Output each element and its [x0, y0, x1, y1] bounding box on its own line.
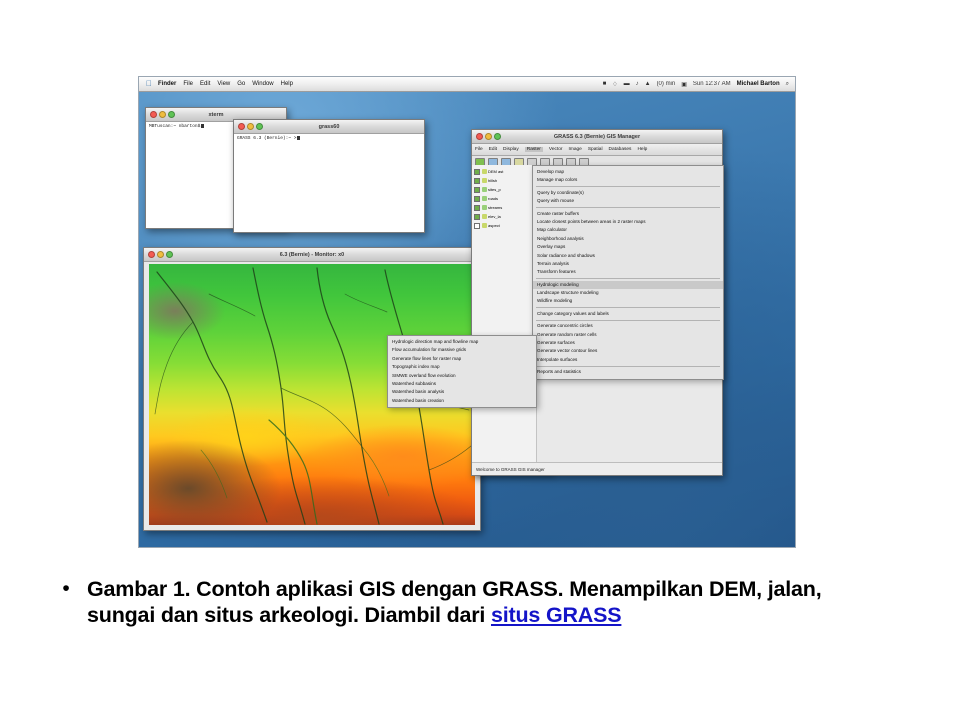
raster-menu-item[interactable]: Query by coordinate(s): [533, 189, 723, 197]
menu-separator: [536, 278, 720, 279]
zoom-icon[interactable]: [168, 111, 175, 118]
submenu-item[interactable]: Generate flow lines for raster map: [388, 355, 536, 363]
layer-tree-item[interactable]: roads: [474, 194, 534, 203]
raster-icon: [482, 214, 487, 219]
raster-menu-item[interactable]: Develop map: [533, 168, 723, 176]
close-icon[interactable]: [238, 123, 245, 130]
terminal-1-prompt: MBTuscan:~ nbarton$: [149, 124, 200, 129]
menu-go[interactable]: Go: [237, 81, 245, 87]
layer-tree-item[interactable]: hillsh: [474, 176, 534, 185]
raster-menu-item[interactable]: Hydrologic modeling: [533, 281, 723, 289]
caption: • Gambar 1. Contoh aplikasi GIS dengan G…: [55, 576, 915, 628]
gm-menu-file[interactable]: File: [475, 147, 483, 152]
gm-menu-display[interactable]: Display: [503, 147, 519, 152]
menu-view[interactable]: View: [217, 81, 230, 87]
raster-menu-item[interactable]: Wildfire modeling: [533, 297, 723, 305]
vector-icon: [482, 196, 487, 201]
monitor-title: 6.3 (Bernie) - Monitor: x0: [144, 252, 480, 258]
submenu-item[interactable]: SIMWE overland flow evolution: [388, 372, 536, 380]
menu-separator: [536, 366, 720, 367]
menu-edit[interactable]: Edit: [200, 81, 210, 87]
zoom-icon[interactable]: [166, 251, 173, 258]
slide-canvas:  Finder File Edit View Go Window Help ■…: [0, 0, 960, 720]
minimize-icon[interactable]: [159, 111, 166, 118]
close-icon[interactable]: [150, 111, 157, 118]
raster-menu-item[interactable]: Interpolate surfaces: [533, 356, 723, 364]
menu-separator: [536, 186, 720, 187]
gm-menu-image[interactable]: Image: [569, 147, 582, 152]
raster-menu-item[interactable]: Locate closest points between areas in 2…: [533, 218, 723, 226]
raster-menu-item[interactable]: Generate concentric circles: [533, 322, 723, 330]
airport-icon[interactable]: ▲: [645, 81, 651, 87]
grass-site-link[interactable]: situs GRASS: [491, 603, 621, 627]
gm-menu-raster[interactable]: Raster: [525, 147, 543, 152]
search-icon[interactable]: ⌕: [786, 81, 789, 88]
status-text: Welcome to GRASS GIS manager: [476, 467, 545, 472]
gis-manager-menubar[interactable]: File Edit Display Raster Vector Image Sp…: [472, 144, 722, 156]
submenu-item[interactable]: Watershed basin creation: [388, 397, 536, 405]
menu-separator: [536, 320, 720, 321]
terminal-window-2[interactable]: grass60 GRASS 6.3 (Bernie):~ >: [233, 119, 425, 233]
layer-label: roads: [488, 196, 498, 201]
gm-menu-spatial[interactable]: Spatial: [588, 147, 603, 152]
raster-menu-item[interactable]: Manage map colors: [533, 176, 723, 184]
menu-separator: [536, 307, 720, 308]
caption-line-2-prefix: sungai dan situs arkeologi. Diambil dari: [87, 603, 491, 627]
gis-manager-window[interactable]: GRASS 6.3 (Bernie) GIS Manager File Edit…: [471, 129, 723, 476]
raster-menu-item[interactable]: Solar radiance and shadows: [533, 252, 723, 260]
raster-menu-item[interactable]: Create raster buffers: [533, 210, 723, 218]
submenu-item[interactable]: Flow accumulation for massive grids: [388, 346, 536, 354]
layer-label: sites_p: [488, 187, 501, 192]
zoom-icon[interactable]: [494, 133, 501, 140]
status-bar: Welcome to GRASS GIS manager: [472, 462, 722, 475]
raster-menu-item[interactable]: Overlay maps: [533, 243, 723, 251]
window-controls[interactable]: [148, 251, 173, 258]
submenu-item[interactable]: Hydrologic direction map and flowline ma…: [388, 338, 536, 346]
raster-menu-item[interactable]: Generate surfaces: [533, 339, 723, 347]
raster-dropdown-menu[interactable]: Develop mapManage map colorsQuery by coo…: [532, 165, 724, 380]
raster-menu-item[interactable]: Map calculator: [533, 226, 723, 234]
menu-help[interactable]: Help: [281, 81, 293, 87]
terminal-2-prompt: GRASS 6.3 (Bernie):~ >: [237, 136, 296, 141]
mac-menu-bar[interactable]:  Finder File Edit View Go Window Help ■…: [139, 77, 795, 92]
raster-icon: [482, 169, 487, 174]
layer-visibility-checkbox[interactable]: [474, 187, 480, 193]
gm-menu-vector[interactable]: Vector: [549, 147, 563, 152]
raster-menu-item[interactable]: Generate vector contour lines: [533, 347, 723, 355]
submenu-item[interactable]: Topographic index map: [388, 363, 536, 371]
gm-menu-edit[interactable]: Edit: [489, 147, 497, 152]
raster-menu-item[interactable]: Generate random raster cells: [533, 331, 723, 339]
menu-file[interactable]: File: [183, 81, 193, 87]
layer-tree-item[interactable]: sites_p: [474, 185, 534, 194]
submenu-item[interactable]: Watershed subbasins: [388, 380, 536, 388]
raster-menu-item[interactable]: Neighborhood analysis: [533, 235, 723, 243]
layer-tree[interactable]: DEM asthillshsites_proadsstreamselev_laa…: [472, 165, 537, 463]
gm-menu-databases[interactable]: Databases: [609, 147, 632, 152]
battery-icon[interactable]: ■: [603, 81, 607, 87]
layer-label: elev_la: [488, 214, 501, 219]
raster-menu-item[interactable]: Landscape structure modeling: [533, 289, 723, 297]
raster-icon: [482, 178, 487, 183]
layer-tree-item[interactable]: streams: [474, 203, 534, 212]
layer-visibility-checkbox[interactable]: [474, 205, 480, 211]
menu-separator: [536, 207, 720, 208]
menu-window[interactable]: Window: [252, 81, 273, 87]
display-icon[interactable]: ▬: [624, 81, 630, 87]
raster-menu-item[interactable]: Terrain analysis: [533, 260, 723, 268]
apple-logo-icon[interactable]: : [146, 80, 152, 88]
bluetooth-icon[interactable]: ♢: [612, 81, 617, 88]
cursor-icon: [201, 124, 204, 128]
gm-menu-help[interactable]: Help: [637, 147, 647, 152]
layer-label: hillsh: [488, 178, 497, 183]
raster-menu-item[interactable]: Reports and statistics: [533, 368, 723, 376]
minimize-icon[interactable]: [157, 251, 164, 258]
minimize-icon[interactable]: [485, 133, 492, 140]
layer-visibility-checkbox[interactable]: [474, 178, 480, 184]
layer-label: DEM ast: [488, 169, 503, 174]
layer-visibility-checkbox[interactable]: [474, 169, 480, 175]
zoom-icon[interactable]: [256, 123, 263, 130]
volume-icon[interactable]: ♪: [636, 81, 639, 87]
window-controls[interactable]: [476, 133, 501, 140]
window-controls[interactable]: [150, 111, 175, 118]
hydrologic-modeling-submenu[interactable]: Hydrologic direction map and flowline ma…: [387, 335, 537, 408]
layer-label: streams: [488, 205, 502, 210]
window-controls[interactable]: [238, 123, 263, 130]
gis-manager-title: GRASS 6.3 (Bernie) GIS Manager: [472, 134, 722, 140]
raster-menu-item[interactable]: Query with mouse: [533, 197, 723, 205]
flag-icon[interactable]: ▣: [681, 81, 687, 88]
titlebar[interactable]: GRASS 6.3 (Bernie) GIS Manager: [472, 130, 722, 144]
time-machine-status[interactable]: (0) min: [657, 81, 676, 87]
layer-label: aspect: [488, 223, 500, 228]
titlebar[interactable]: grass60: [234, 120, 424, 134]
embedded-screenshot:  Finder File Edit View Go Window Help ■…: [139, 77, 795, 547]
caption-bullet: •: [55, 576, 77, 602]
menubar-username[interactable]: Michael Barton: [737, 81, 780, 87]
raster-icon: [482, 223, 487, 228]
minimize-icon[interactable]: [247, 123, 254, 130]
terminal-2-body[interactable]: GRASS 6.3 (Bernie):~ >: [234, 134, 424, 145]
cursor-icon: [297, 136, 300, 140]
vector-icon: [482, 187, 487, 192]
raster-menu-item[interactable]: Change category values and labels: [533, 310, 723, 318]
layer-visibility-checkbox[interactable]: [474, 223, 480, 229]
layer-tree-item[interactable]: aspect: [474, 221, 534, 230]
menu-finder[interactable]: Finder: [158, 81, 176, 87]
titlebar[interactable]: 6.3 (Bernie) - Monitor: x0: [144, 248, 480, 262]
caption-line-1: Gambar 1. Contoh aplikasi GIS dengan GRA…: [87, 577, 821, 601]
submenu-item[interactable]: Watershed basin analysis: [388, 388, 536, 396]
raster-menu-item[interactable]: Transform features: [533, 268, 723, 276]
close-icon[interactable]: [148, 251, 155, 258]
layer-visibility-checkbox[interactable]: [474, 196, 480, 202]
vector-icon: [482, 205, 487, 210]
caption-text: Gambar 1. Contoh aplikasi GIS dengan GRA…: [87, 576, 821, 628]
layer-tree-item[interactable]: elev_la: [474, 212, 534, 221]
close-icon[interactable]: [476, 133, 483, 140]
layer-visibility-checkbox[interactable]: [474, 214, 480, 220]
layer-tree-item[interactable]: DEM ast: [474, 167, 534, 176]
menubar-clock[interactable]: Sun 12:37 AM: [693, 81, 731, 87]
